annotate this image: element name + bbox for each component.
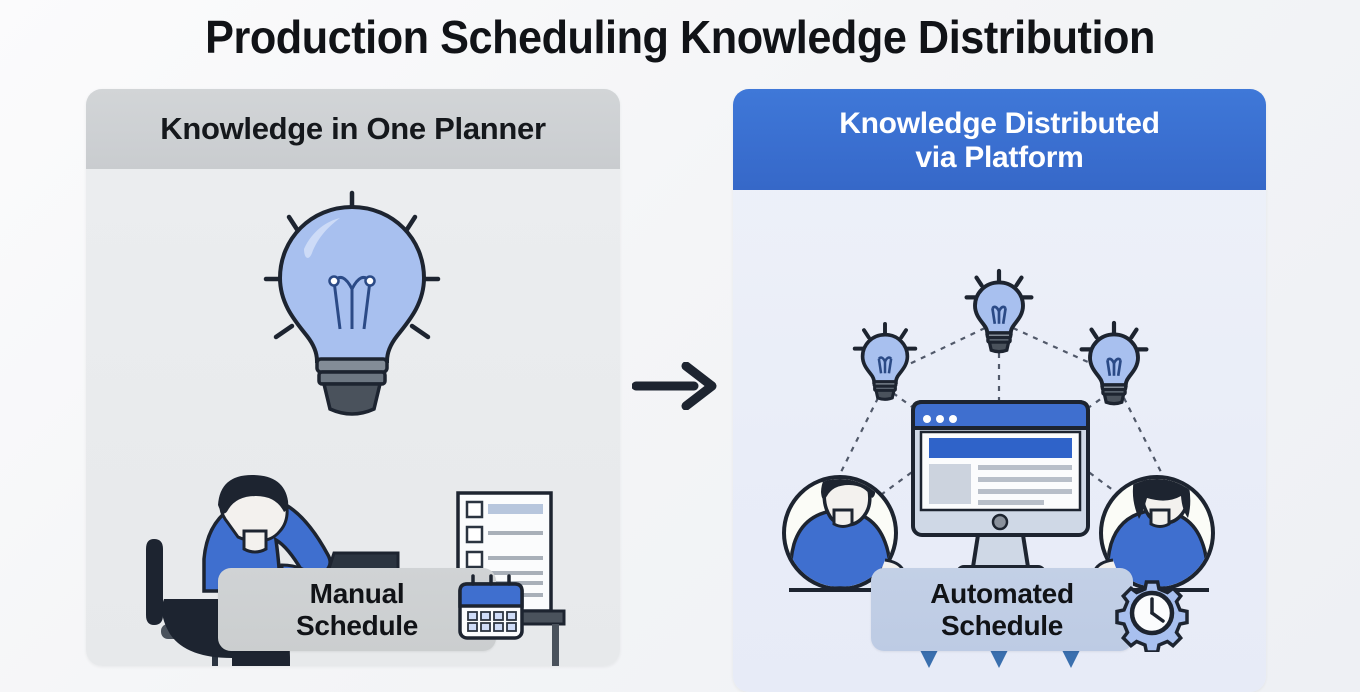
lightbulb-icon <box>1082 323 1147 404</box>
lightbulb-icon <box>967 271 1032 352</box>
automated-schedule-label-line1: Automated <box>871 578 1133 609</box>
lightbulb-icon <box>266 193 438 414</box>
automated-schedule-label: Automated Schedule <box>871 578 1133 641</box>
right-panel-header-line1: Knowledge Distributed <box>839 107 1159 141</box>
automated-schedule-label-line2: Schedule <box>871 610 1133 641</box>
page-title: Production Scheduling Knowledge Distribu… <box>41 10 1319 64</box>
gear-clock-icon <box>1110 568 1194 652</box>
arrow-right-icon <box>632 362 724 410</box>
left-panel-header: Knowledge in One Planner <box>86 89 620 169</box>
diagram-canvas: Production Scheduling Knowledge Distribu… <box>0 0 1360 692</box>
calendar-icon <box>452 570 530 648</box>
left-panel-header-label: Knowledge in One Planner <box>160 112 546 147</box>
monitor-platform-icon <box>913 402 1088 579</box>
right-panel-card: Knowledge Distributed via Platform <box>733 89 1266 692</box>
right-panel-header: Knowledge Distributed via Platform <box>733 89 1266 190</box>
right-panel-header-line2: via Platform <box>839 141 1159 175</box>
lightbulb-icon <box>855 324 915 399</box>
automated-schedule-pill[interactable]: Automated Schedule <box>871 568 1133 651</box>
left-panel-card: Knowledge in One Planner <box>86 89 620 666</box>
